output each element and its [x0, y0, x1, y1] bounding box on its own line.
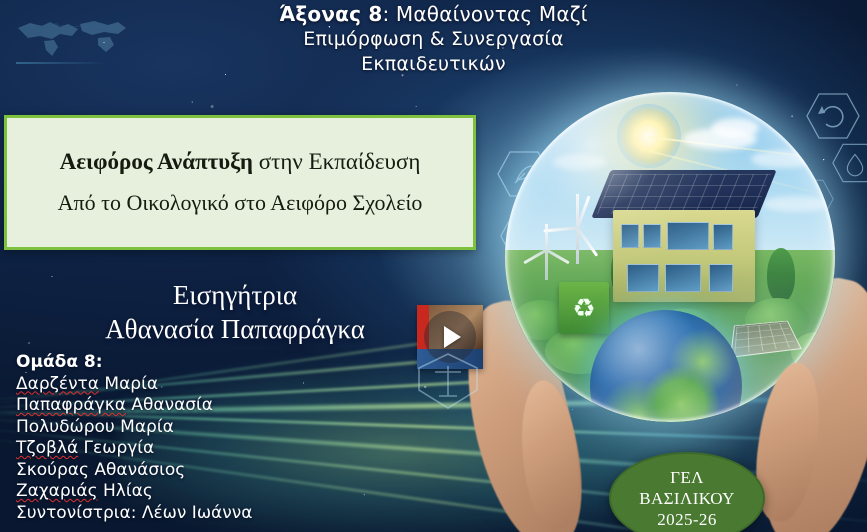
- badge-line-1: ΓΕΛ: [670, 467, 704, 488]
- title-main: Αειφόρος Ανάπτυξη: [60, 149, 253, 174]
- header-line-2: Επιμόρφωση & Συνεργασία: [0, 27, 867, 52]
- axis-subtitle: : Μαθαίνοντας Μαζί: [382, 2, 587, 26]
- wind-turbine-icon-2: [529, 210, 563, 280]
- team-member-surname: Τζοβλά: [16, 438, 78, 458]
- team-member-surname: Δαρζέντα: [16, 374, 99, 394]
- title-line-1: Αειφόρος Ανάπτυξη στην Εκπαίδευση: [60, 149, 421, 175]
- team-member: Πολυδώρου Μαρία: [16, 417, 252, 439]
- play-triangle-icon: [444, 326, 461, 348]
- recycling-bin-icon: ♻: [559, 282, 609, 334]
- eco-house: [613, 210, 755, 302]
- title-box: Αειφόρος Ανάπτυξη στην Εκπαίδευση Από το…: [4, 115, 476, 250]
- team-member: Παπαφράγκα Αθανασία: [16, 395, 252, 417]
- team-member: Τζοβλά Γεωργία: [16, 438, 252, 460]
- team-member-surname: Παπαφράγκα: [16, 395, 126, 415]
- badge-line-3: 2025-26: [657, 509, 716, 530]
- school-emblem-icon: [415, 352, 481, 410]
- presenter-block: Εισηγήτρια Αθανασία Παπαφράγκα: [0, 278, 470, 346]
- header-line-3: Εκπαιδευτικών: [0, 52, 867, 77]
- slide-header: Άξονας 8: Μαθαίνοντας Μαζί Επιμόρφωση & …: [0, 2, 867, 77]
- presenter-name: Αθανασία Παπαφράγκα: [0, 312, 470, 346]
- team-list: Ομάδα 8: Δαρζέντα Μαρία Παπαφράγκα Αθανα…: [16, 352, 252, 524]
- title-line-2: Από το Οικολογικό στο Αειφόρο Σχολείο: [58, 190, 423, 216]
- team-member-surname: Ζαχαριάς: [16, 481, 98, 501]
- presenter-role: Εισηγήτρια: [0, 278, 470, 312]
- header-line-1: Άξονας 8: Μαθαίνοντας Μαζί: [0, 2, 867, 27]
- team-member: Σκούρας Αθανάσιος: [16, 460, 252, 482]
- presentation-slide: ♻ Άξονας 8: Μαθαίνοντας Μαζί Επιμόρφωση …: [0, 0, 867, 532]
- team-member: Ζαχαριάς Ηλίας: [16, 481, 252, 503]
- title-suffix: στην Εκπαίδευση: [253, 149, 420, 174]
- team-member: Δαρζέντα Μαρία: [16, 374, 252, 396]
- team-coordinator: Συντονίστρια: Λέων Ιωάννα: [16, 503, 252, 525]
- recycle-symbol: ♻: [559, 282, 609, 334]
- badge-line-2: ΒΑΣΙΛΙΚΟΥ: [639, 488, 735, 509]
- team-heading: Ομάδα 8:: [16, 352, 252, 374]
- axis-label: Άξονας 8: [279, 2, 382, 26]
- wind-turbine-icon: [557, 180, 597, 264]
